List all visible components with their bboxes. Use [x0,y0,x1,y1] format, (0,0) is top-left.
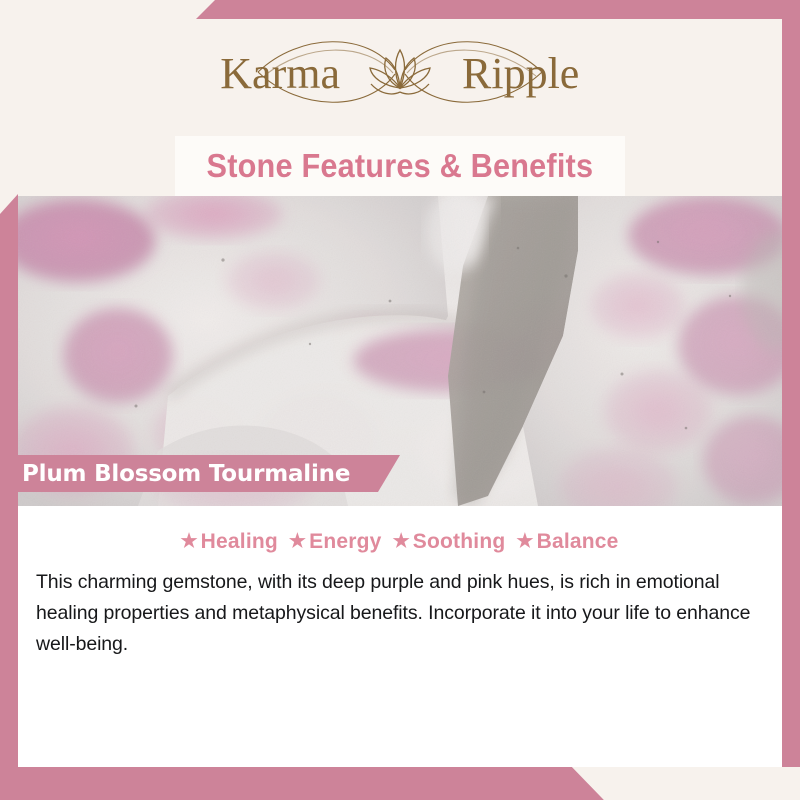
brand-name-left: Karma [220,49,340,98]
product-description: This charming gemstone, with its deep pu… [36,567,776,660]
feature-tag-label: Healing [201,530,284,553]
promo-card: Karma Ripple Stone Features & Benefits [0,0,800,800]
feature-tag-label: Soothing [413,530,512,553]
page-title: Stone Features & Benefits [207,147,594,185]
feature-tag-list: ★Healing★Energy★Soothing★Balance [18,530,782,554]
feature-tag-healing: ★Healing [175,530,283,554]
feature-tag-soothing: ★Soothing [388,530,512,554]
star-icon: ★ [284,531,309,552]
product-name: Plum Blossom Tourmaline [0,461,350,487]
brand-logo: Karma Ripple [0,22,800,122]
product-name-ribbon: Plum Blossom Tourmaline [0,455,400,492]
feature-tag-label: Balance [537,530,625,553]
star-icon: ★ [388,531,413,552]
decorative-band-bottom-fill [572,767,800,800]
lotus-icon: Karma Ripple [190,26,610,118]
section-title-plate: Stone Features & Benefits [175,136,625,196]
star-icon: ★ [511,531,536,552]
feature-tag-energy: ★Energy [284,530,388,554]
feature-tag-label: Energy [309,530,387,553]
star-icon: ★ [175,531,200,552]
feature-tag-balance: ★Balance [511,530,624,554]
decorative-band-top [0,0,800,19]
brand-name-right: Ripple [462,49,579,98]
